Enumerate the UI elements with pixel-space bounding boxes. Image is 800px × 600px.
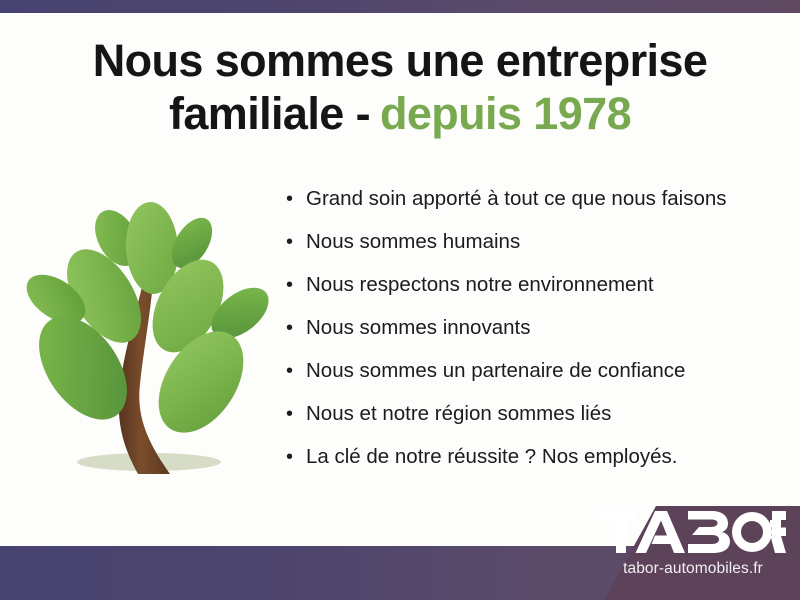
tabor-logo bbox=[600, 509, 786, 555]
tree-illustration bbox=[18, 186, 284, 486]
headline-line-2-accent: depuis 1978 bbox=[380, 88, 631, 139]
headline-line-2-plain: familiale - bbox=[169, 88, 370, 139]
list-item-label: Nous respectons notre environnement bbox=[306, 275, 654, 296]
list-item: • Nous respectons notre environnement bbox=[286, 275, 786, 318]
logo-tagline: tabor-automobiles.fr bbox=[600, 560, 786, 578]
bullet-marker-icon: • bbox=[286, 361, 306, 381]
list-item: • Nous sommes humains bbox=[286, 232, 786, 275]
bullet-marker-icon: • bbox=[286, 318, 306, 338]
bullet-marker-icon: • bbox=[286, 404, 306, 424]
headline-line-1: Nous sommes une entreprise bbox=[40, 34, 760, 87]
bullet-marker-icon: • bbox=[286, 447, 306, 467]
headline-line-2: familiale -depuis 1978 bbox=[40, 87, 760, 140]
list-item: • Grand soin apporté à tout ce que nous … bbox=[286, 189, 786, 232]
page-title: Nous sommes une entreprise familiale -de… bbox=[40, 34, 760, 140]
slide-canvas: Nous sommes une entreprise familiale -de… bbox=[0, 0, 800, 600]
list-item-label: Grand soin apporté à tout ce que nous fa… bbox=[306, 189, 727, 210]
list-item: • La clé de notre réussite ? Nos employé… bbox=[286, 447, 786, 490]
list-item-label: Nous sommes innovants bbox=[306, 318, 530, 339]
list-item: • Nous sommes un partenaire de confiance bbox=[286, 361, 786, 404]
bullet-marker-icon: • bbox=[286, 275, 306, 295]
top-brand-bar bbox=[0, 0, 800, 13]
bullet-marker-icon: • bbox=[286, 189, 306, 209]
bullet-marker-icon: • bbox=[286, 232, 306, 252]
benefits-list: • Grand soin apporté à tout ce que nous … bbox=[286, 189, 786, 490]
list-item: • Nous et notre région sommes liés bbox=[286, 404, 786, 447]
list-item-label: La clé de notre réussite ? Nos employés. bbox=[306, 447, 677, 468]
list-item-label: Nous sommes humains bbox=[306, 232, 520, 253]
list-item-label: Nous sommes un partenaire de confiance bbox=[306, 361, 685, 382]
list-item: • Nous sommes innovants bbox=[286, 318, 786, 361]
list-item-label: Nous et notre région sommes liés bbox=[306, 404, 611, 425]
